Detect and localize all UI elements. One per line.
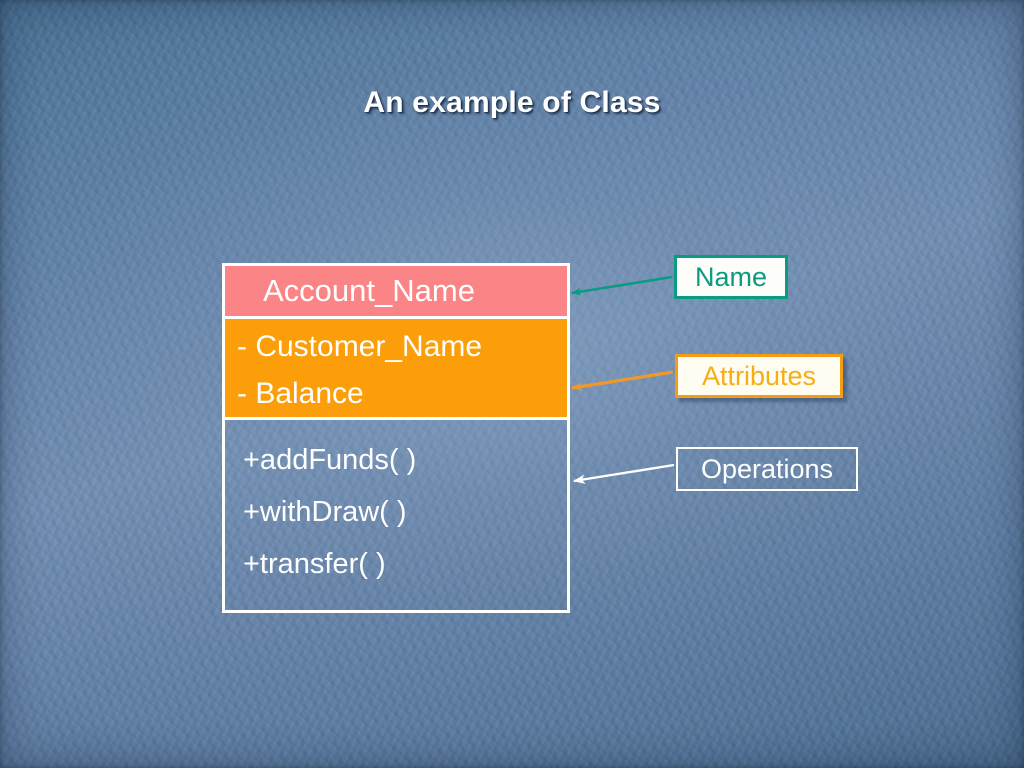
class-name-label: Account_Name <box>263 273 475 309</box>
attribute-item: - Customer_Name <box>237 323 567 370</box>
operation-item: +addFunds( ) <box>243 434 567 486</box>
operation-item: +withDraw( ) <box>243 486 567 538</box>
class-operations-compartment: +addFunds( ) +withDraw( ) +transfer( ) <box>225 420 567 607</box>
slide-canvas: An example of Class Account_Name - Custo… <box>0 0 1024 768</box>
arrow-to-attributes-compartment <box>572 372 673 388</box>
callout-operations[interactable]: Operations <box>676 447 858 491</box>
uml-class-box[interactable]: Account_Name - Customer_Name - Balance +… <box>222 263 570 613</box>
callout-name[interactable]: Name <box>674 255 788 299</box>
arrow-to-name-compartment <box>572 277 672 293</box>
operation-item: +transfer( ) <box>243 538 567 590</box>
class-attributes-compartment: - Customer_Name - Balance <box>225 319 567 420</box>
class-name-compartment: Account_Name <box>225 266 567 319</box>
attribute-item: - Balance <box>237 370 567 417</box>
callout-attributes[interactable]: Attributes <box>675 354 843 398</box>
arrow-to-operations-compartment <box>574 465 674 481</box>
page-title: An example of Class <box>0 86 1024 120</box>
